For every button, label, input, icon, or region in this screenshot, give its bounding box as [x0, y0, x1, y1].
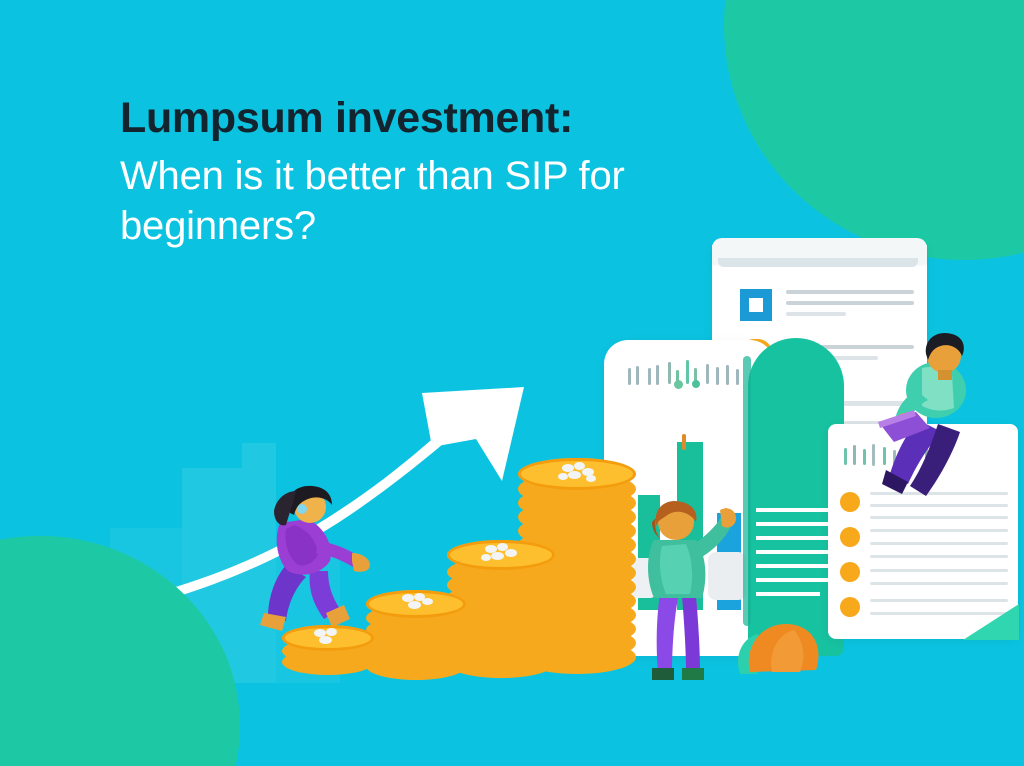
checklist-line — [870, 555, 1008, 558]
pill-stripe — [756, 592, 820, 596]
blue-square-icon — [740, 289, 772, 321]
chart-marker-1 — [682, 434, 686, 450]
checklist-line — [870, 569, 1008, 572]
doc-text-line — [786, 301, 914, 305]
checklist-line — [870, 542, 1008, 545]
chart-card-scribbles — [626, 362, 752, 388]
pill-stripe — [756, 536, 832, 540]
card-page-curl-shadow — [718, 258, 918, 267]
checklist-line — [870, 599, 1008, 602]
doc-text-line — [786, 312, 846, 316]
coin-stack-2 — [366, 590, 466, 680]
checklist-bullet — [840, 492, 860, 512]
pill-stripe — [756, 508, 832, 512]
checklist-bullet — [840, 562, 860, 582]
poster-canvas: Lumpsum investment: When is it better th… — [0, 0, 1024, 766]
pill-stripe — [756, 522, 832, 526]
climbing-woman — [252, 485, 382, 645]
page-title: Lumpsum investment: — [120, 96, 760, 141]
pill-stripe — [756, 578, 832, 582]
pill-stripe — [756, 564, 832, 568]
checklist-line — [870, 612, 1008, 615]
page-subtitle: When is it better than SIP for beginners… — [120, 151, 700, 251]
checklist-bullet — [840, 527, 860, 547]
seated-person-with-laptop — [860, 328, 1010, 508]
checklist-line — [870, 582, 1008, 585]
orange-plant-icon — [728, 608, 848, 678]
pill-stripe — [756, 550, 832, 554]
checklist-line — [870, 529, 1008, 532]
coin-stack-1 — [282, 625, 374, 681]
title-block: Lumpsum investment: When is it better th… — [120, 96, 760, 251]
doc-text-line — [786, 290, 914, 294]
standing-person-at-chart — [632, 500, 742, 700]
checklist-line — [870, 516, 1008, 519]
